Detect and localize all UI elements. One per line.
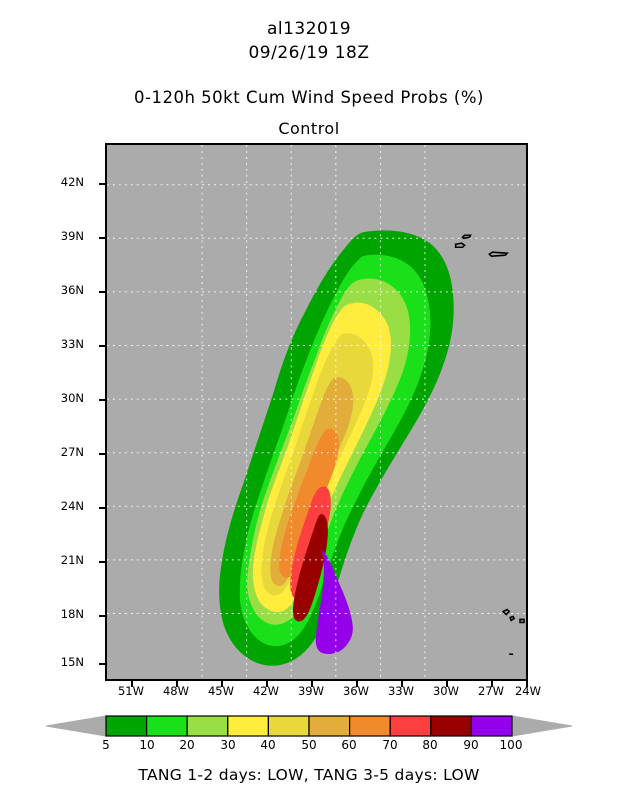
colorbar-label-80: 80 xyxy=(410,738,450,752)
y-tick-label-21N: 21N xyxy=(38,555,84,567)
x-tick-label-45W: 45W xyxy=(201,686,241,698)
colorbar-label-50: 50 xyxy=(289,738,329,752)
chart-subtitle: Control xyxy=(0,119,618,138)
colorbar-label-60: 60 xyxy=(329,738,369,752)
y-tick-label-27N: 27N xyxy=(38,447,84,459)
y-tick-label-24N: 24N xyxy=(38,501,84,513)
y-tick-label-18N: 18N xyxy=(38,609,84,621)
x-tick-label-30W: 30W xyxy=(426,686,466,698)
storm-id-title: al132019 xyxy=(0,19,618,39)
y-tick-label-36N: 36N xyxy=(38,285,84,297)
x-tick-label-24W: 24W xyxy=(508,686,548,698)
colorbar-label-70: 70 xyxy=(370,738,410,752)
x-tick-label-51W: 51W xyxy=(111,686,151,698)
y-tick-label-42N: 42N xyxy=(38,177,84,189)
chart-title: 0-120h 50kt Cum Wind Speed Probs (%) xyxy=(0,88,618,107)
x-tick-label-27W: 27W xyxy=(471,686,511,698)
colorbar-label-40: 40 xyxy=(248,738,288,752)
valid-time-title: 09/26/19 18Z xyxy=(0,43,618,63)
tang-confidence-footer: TANG 1-2 days: LOW, TANG 3-5 days: LOW xyxy=(0,766,618,784)
cape-verde-islands xyxy=(503,610,524,655)
colorbar-swatches xyxy=(106,716,512,736)
colorbar-label-90: 90 xyxy=(451,738,491,752)
colorbar-label-20: 20 xyxy=(167,738,207,752)
colorbar-label-100: 100 xyxy=(491,738,531,752)
wind-speed-probability-chart: al132019 09/26/19 18Z 0-120h 50kt Cum Wi… xyxy=(0,0,618,800)
y-tick-label-30N: 30N xyxy=(38,393,84,405)
y-tick-label-33N: 33N xyxy=(38,339,84,351)
colorbar-label-30: 30 xyxy=(208,738,248,752)
x-tick-label-36W: 36W xyxy=(336,686,376,698)
x-tick-label-33W: 33W xyxy=(381,686,421,698)
colorbar xyxy=(46,714,572,738)
y-tick-label-39N: 39N xyxy=(38,231,84,243)
colorbar-label-10: 10 xyxy=(127,738,167,752)
map-plot-area xyxy=(105,143,528,681)
x-tick-label-42W: 42W xyxy=(246,686,286,698)
colorbar-extend-left xyxy=(46,716,106,736)
y-tick-label-15N: 15N xyxy=(38,657,84,669)
colorbar-extend-right xyxy=(512,716,572,736)
x-tick-label-48W: 48W xyxy=(156,686,196,698)
colorbar-label-5: 5 xyxy=(86,738,126,752)
x-tick-label-39W: 39W xyxy=(291,686,331,698)
